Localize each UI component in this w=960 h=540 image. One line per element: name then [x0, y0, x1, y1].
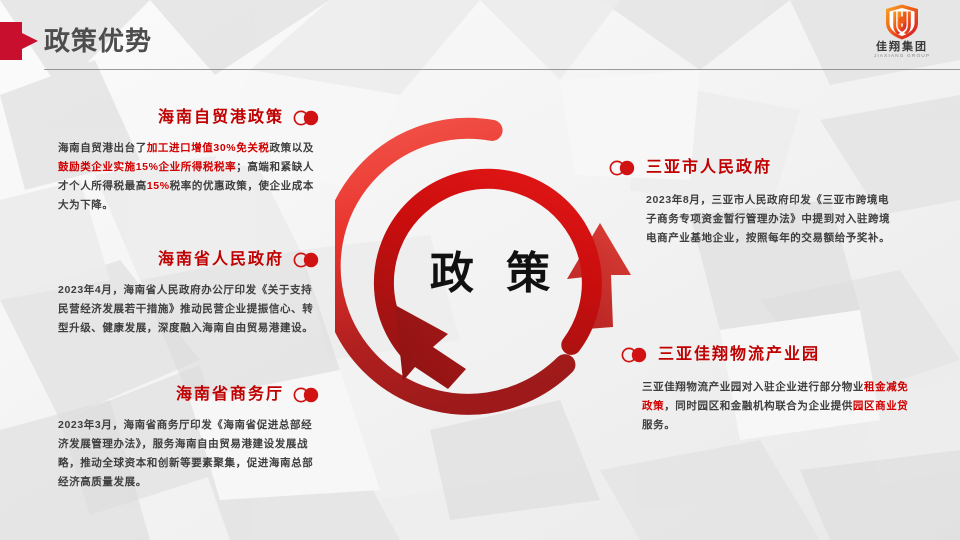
block-body: 2023年8月，三亚市人民政府印发《三亚市跨境电子商务专项资金暂行管理办法》中提… [646, 191, 898, 248]
two-circles-marker-icon [608, 160, 638, 176]
block-title: 三亚市人民政府 [646, 158, 772, 178]
two-circles-marker-icon [620, 347, 650, 363]
block-title: 海南自贸港政策 [158, 108, 284, 128]
right-triangle-icon [0, 22, 38, 60]
two-circles-marker-icon [292, 387, 322, 403]
logo-name-en: JIAXIANG GROUP [856, 53, 947, 60]
highlight-text: 15% [147, 180, 170, 192]
central-keyword: 政 策 [335, 250, 645, 298]
body-text: ，同时园区和金融机构联合为企业提供 [664, 400, 853, 412]
two-circles-marker-icon [292, 110, 322, 126]
body-text: 2023年3月，海南省商务厅印发《海南省促进总部经济发展管理办法》，服务海南自由… [58, 419, 313, 488]
slide-header: 政策优势 [0, 0, 960, 74]
block-title: 海南省商务厅 [176, 385, 284, 405]
block-body: 三亚佳翔物流产业园对入驻企业进行部分物业租金减免政策，同时园区和金融机构联合为企… [642, 378, 912, 435]
block-title: 三亚佳翔物流产业园 [658, 345, 820, 365]
page-title: 政策优势 [44, 25, 152, 57]
header-divider [44, 69, 960, 70]
block-body: 海南自贸港出台了加工进口增值30%免关税政策以及鼓励类企业实施15%企业所得税税… [58, 139, 322, 215]
body-text: 三亚佳翔物流产业园对入驻企业进行部分物业 [642, 381, 864, 393]
highlight-text: 鼓励类企业实施15%企业所得税税率 [58, 161, 236, 173]
body-text: 海南自贸港出台了 [58, 142, 147, 154]
shield-logo-icon [885, 4, 919, 40]
body-text: 服务。 [642, 419, 675, 431]
logo-name-cn: 佳翔集团 [854, 41, 950, 53]
block-hainan-provincial-government: 海南省人民政府 2023年4月，海南省人民政府办公厅印发《关于支持民营经济发展若… [58, 250, 322, 338]
block-hainan-department-of-commerce: 海南省商务厅 2023年3月，海南省商务厅印发《海南省促进总部经济发展管理办法》… [58, 385, 322, 492]
block-sanya-municipal-government: 三亚市人民政府 2023年8月，三亚市人民政府印发《三亚市跨境电子商务专项资金暂… [608, 158, 898, 248]
block-body: 2023年4月，海南省人民政府办公厅印发《关于支持民营经济发展若干措施》推动民营… [58, 281, 322, 338]
body-text: 2023年8月，三亚市人民政府印发《三亚市跨境电子商务专项资金暂行管理办法》中提… [646, 194, 890, 244]
body-text: 2023年4月，海南省人民政府办公厅印发《关于支持民营经济发展若干措施》推动民营… [58, 284, 313, 334]
block-body: 2023年3月，海南省商务厅印发《海南省促进总部经济发展管理办法》，服务海南自由… [58, 416, 322, 492]
block-title: 海南省人民政府 [158, 250, 284, 270]
highlight-text: 加工进口增值30%免关税 [147, 142, 270, 154]
block-sanya-jiaxiang-logistics-park: 三亚佳翔物流产业园 三亚佳翔物流产业园对入驻企业进行部分物业租金减免政策，同时园… [620, 345, 920, 435]
two-circles-marker-icon [292, 252, 322, 268]
company-logo: 佳翔集团 JIAXIANG GROUP [854, 4, 950, 66]
block-hainan-free-trade-port-policy: 海南自贸港政策 海南自贸港出台了加工进口增值30%免关税政策以及鼓励类企业实施1… [58, 108, 322, 215]
highlight-text: 园区商业贷 [853, 400, 909, 412]
slide-root: 政策优势 佳翔集团 JIAXIANG GROUP [0, 0, 960, 540]
body-text: 政策以及 [270, 142, 314, 154]
